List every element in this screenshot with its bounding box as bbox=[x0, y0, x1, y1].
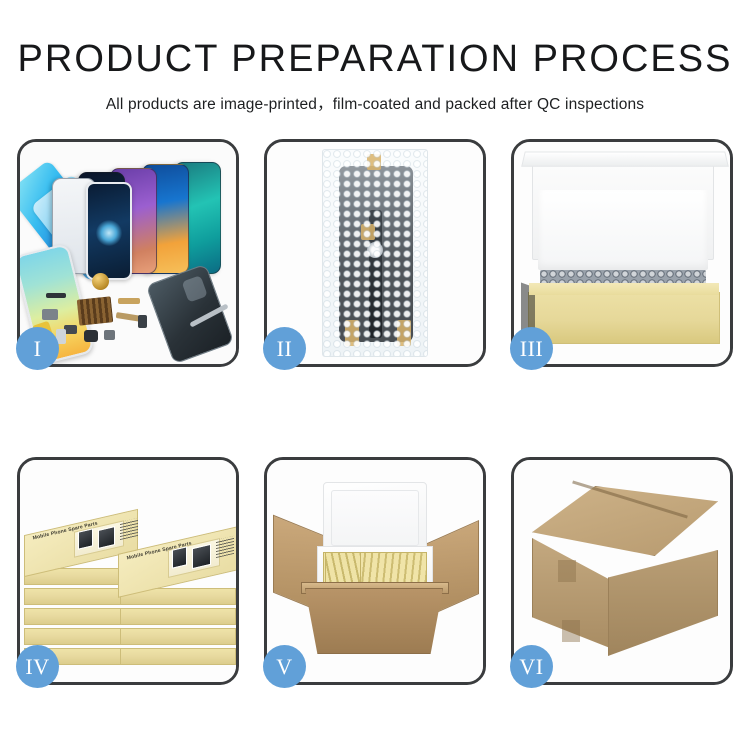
step-badge-1: I bbox=[16, 327, 59, 370]
step-badge-5: V bbox=[263, 645, 306, 688]
foam-sheet-icon bbox=[538, 190, 708, 270]
bubble-wrap-bag bbox=[322, 149, 428, 357]
process-step-panel-2: II bbox=[264, 139, 486, 367]
step-badge-4: IV bbox=[16, 645, 59, 688]
tempered-glass-screen-icon bbox=[86, 182, 132, 280]
step-badge-2: II bbox=[263, 327, 306, 370]
stacked-box-edge bbox=[24, 628, 134, 645]
phone-chassis-icon bbox=[146, 264, 235, 364]
screen-image-icon bbox=[192, 544, 211, 569]
step-badge-3: III bbox=[510, 327, 553, 370]
process-step-grid: I II bbox=[17, 139, 733, 685]
phone-parts-illustration bbox=[20, 142, 236, 364]
bubble-texture bbox=[323, 150, 427, 356]
component-part-icon bbox=[104, 330, 115, 340]
process-step-panel-5: V bbox=[264, 457, 486, 685]
process-step-panel-3: III bbox=[511, 139, 733, 367]
box-stack: Mobile Phone Spare Parts Mobile Phone Sp… bbox=[24, 476, 236, 676]
component-part-icon bbox=[138, 315, 147, 328]
product-preparation-process-page: PRODUCT PREPARATION PROCESS All products… bbox=[0, 0, 750, 750]
component-part-icon bbox=[46, 293, 66, 298]
component-part-icon bbox=[42, 309, 58, 320]
step-badge-6: VI bbox=[510, 645, 553, 688]
kraft-box-base-icon bbox=[528, 292, 720, 344]
screen-image-icon bbox=[98, 526, 115, 549]
stacked-boxes-illustration: Mobile Phone Spare Parts Mobile Phone Sp… bbox=[20, 460, 236, 682]
page-subtitle: All products are image-printed，film-coat… bbox=[0, 92, 750, 114]
component-part-icon bbox=[84, 330, 98, 342]
speaker-module-icon bbox=[92, 273, 109, 290]
stacked-box-edge bbox=[120, 628, 236, 645]
screen-image-icon bbox=[172, 546, 187, 568]
stacked-box-edge bbox=[24, 608, 134, 625]
page-header: PRODUCT PREPARATION PROCESS All products… bbox=[0, 0, 750, 114]
carton-handle-tab bbox=[562, 620, 580, 642]
page-title: PRODUCT PREPARATION PROCESS bbox=[0, 38, 750, 81]
process-step-panel-1: I bbox=[17, 139, 239, 367]
open-box-illustration bbox=[514, 142, 730, 364]
foam-lid-icon bbox=[323, 482, 427, 554]
flex-cable-icon bbox=[118, 298, 140, 304]
carton-handle-tab bbox=[558, 560, 576, 582]
carton-front-icon bbox=[305, 588, 443, 654]
process-step-panel-4: Mobile Phone Spare Parts Mobile Phone Sp… bbox=[17, 457, 239, 685]
stacked-box-edge bbox=[120, 608, 236, 625]
process-step-panel-6: VI bbox=[511, 457, 733, 685]
carton-right-face bbox=[608, 550, 718, 656]
stacked-box-edge bbox=[120, 648, 236, 665]
bubble-wrap-illustration bbox=[267, 142, 483, 364]
screw-grid-icon bbox=[77, 296, 114, 325]
screen-image-icon bbox=[78, 528, 93, 549]
packed-carton-illustration bbox=[267, 460, 483, 682]
sealed-carton-illustration bbox=[514, 460, 730, 682]
